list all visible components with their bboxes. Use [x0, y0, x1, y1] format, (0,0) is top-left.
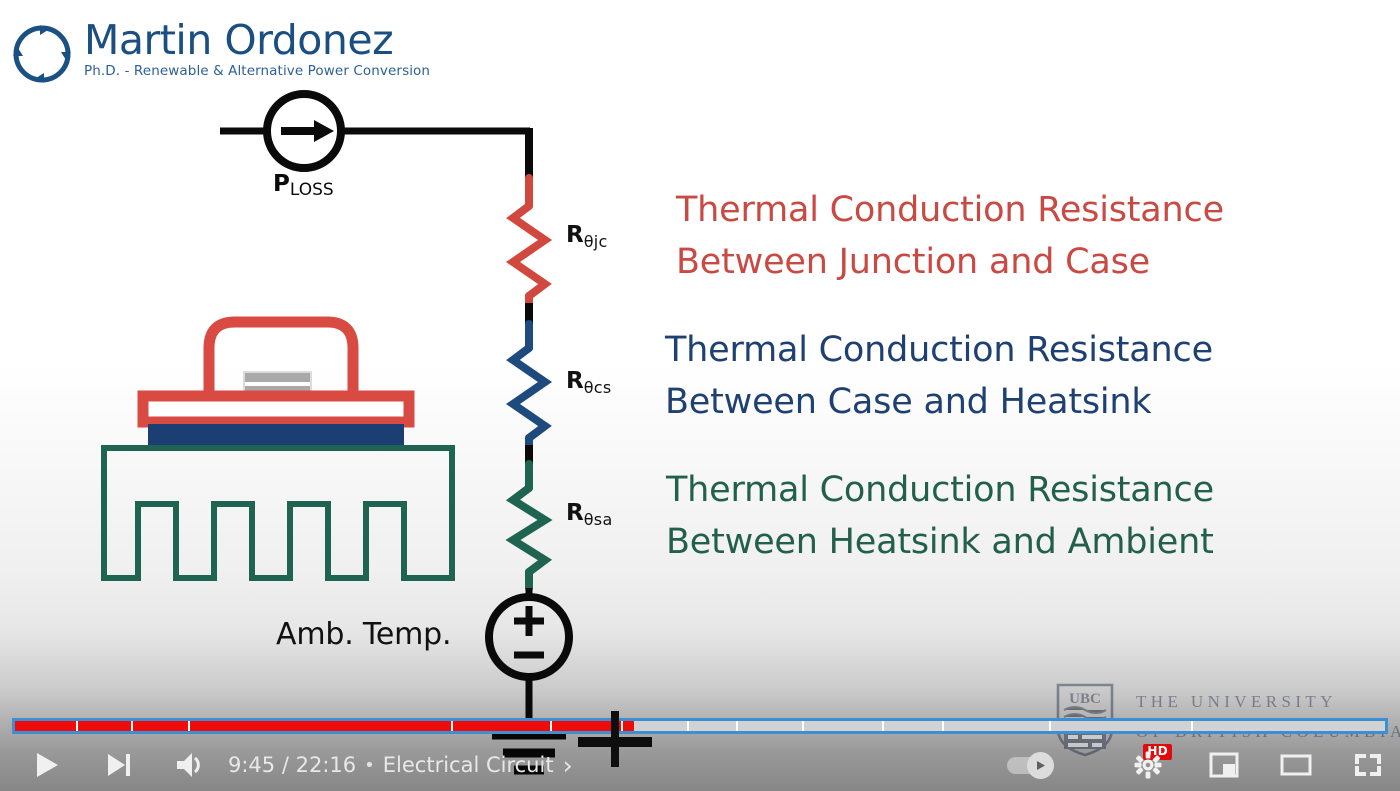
chapter-progress-fill — [623, 721, 634, 731]
controls-row[interactable]: 9:45 / 22:16 • Electrical Circuit › HD — [0, 739, 1400, 791]
resistor-subscript: θcs — [584, 378, 612, 397]
chapter-progress-fill — [133, 721, 189, 731]
power-loss-symbol: P — [273, 171, 290, 197]
resistor-label-rthetasa: Rθsa — [566, 500, 613, 526]
chapter-segment[interactable] — [804, 721, 883, 731]
current-time: 9:45 — [228, 753, 275, 777]
resistor-symbol: R — [566, 368, 584, 394]
logo-name: Martin Ordonez — [84, 18, 430, 62]
chapter-progress-fill — [453, 721, 550, 731]
progress-bar-area[interactable] — [0, 713, 1400, 739]
fullscreen-icon — [1353, 752, 1383, 778]
chapter-segment[interactable] — [738, 721, 804, 731]
caption-case-heatsink: Thermal Conduction Resistance Between Ca… — [665, 324, 1213, 428]
play-small-icon — [1034, 759, 1047, 772]
thermal-interface-layer — [148, 424, 404, 448]
chapter-segment[interactable] — [78, 721, 133, 731]
power-loss-subscript: LOSS — [290, 180, 334, 200]
resistor-label-rthetacs: Rθcs — [566, 368, 612, 394]
next-track-icon — [103, 750, 133, 780]
next-video-button[interactable] — [92, 739, 144, 791]
theater-mode-icon — [1280, 753, 1312, 777]
settings-gear-button[interactable] — [1122, 739, 1174, 791]
fullscreen-button[interactable] — [1342, 739, 1394, 791]
time-and-chapter-display: 9:45 / 22:16 • Electrical Circuit › — [228, 739, 573, 791]
theater-mode-button[interactable] — [1270, 739, 1322, 791]
chapter-segments[interactable] — [15, 721, 1385, 731]
chapter-segment[interactable] — [1193, 721, 1385, 731]
chapter-segment[interactable] — [944, 721, 1051, 731]
volume-button[interactable] — [164, 739, 216, 791]
autoplay-toggle[interactable] — [992, 739, 1064, 791]
power-loss-label: PLOSS — [273, 171, 334, 197]
total-time: 22:16 — [296, 753, 357, 777]
volume-high-icon — [174, 750, 206, 780]
autoplay-toggle-knob — [1027, 752, 1054, 779]
chapter-progress-fill — [78, 721, 131, 731]
logo-tagline: Ph.D. - Renewable & Alternative Power Co… — [84, 63, 430, 79]
ambient-temperature-label: Amb. Temp. — [276, 617, 451, 652]
autoplay-toggle-track — [1007, 757, 1049, 774]
resistor-symbol: R — [566, 222, 584, 248]
video-player-stage: Martin Ordonez Ph.D. - Renewable & Alter… — [0, 0, 1400, 791]
chapter-segment[interactable] — [133, 721, 191, 731]
separator-dot: • — [364, 755, 375, 776]
resistor-symbol: R — [566, 500, 584, 526]
chapter-segment[interactable] — [623, 721, 689, 731]
gear-icon — [1132, 749, 1164, 781]
chapter-segment[interactable] — [453, 721, 552, 731]
progress-bar[interactable] — [12, 718, 1388, 734]
miniplayer-icon — [1209, 752, 1239, 778]
player-controls-bar[interactable]: 9:45 / 22:16 • Electrical Circuit › HD — [0, 713, 1400, 791]
play-icon — [31, 750, 61, 780]
chapter-title[interactable]: Electrical Circuit — [383, 753, 554, 777]
chapter-segment[interactable] — [689, 721, 738, 731]
resistor-label-rthetajc: Rθjc — [566, 222, 608, 248]
video-frame[interactable]: Martin Ordonez Ph.D. - Renewable & Alter… — [0, 0, 1400, 791]
chapter-segment[interactable] — [15, 721, 78, 731]
chapter-progress-fill — [15, 721, 76, 731]
caption-heatsink-ambient: Thermal Conduction Resistance Between He… — [666, 464, 1214, 568]
chapter-segment[interactable] — [884, 721, 944, 731]
play-button[interactable] — [20, 739, 72, 791]
channel-logo: Martin Ordonez Ph.D. - Renewable & Alter… — [10, 18, 430, 86]
circular-arrows-icon — [10, 22, 74, 86]
resistor-subscript: θsa — [584, 510, 613, 529]
caption-junction-case: Thermal Conduction Resistance Between Ju… — [676, 184, 1224, 288]
device-baseplate — [143, 396, 409, 422]
chapter-segment[interactable] — [1051, 721, 1193, 731]
chapter-progress-fill — [190, 721, 451, 731]
chapter-chevron-icon[interactable]: › — [563, 753, 573, 778]
chapter-segment[interactable] — [190, 721, 453, 731]
miniplayer-button[interactable] — [1198, 739, 1250, 791]
resistor-subscript: θjc — [584, 232, 608, 251]
